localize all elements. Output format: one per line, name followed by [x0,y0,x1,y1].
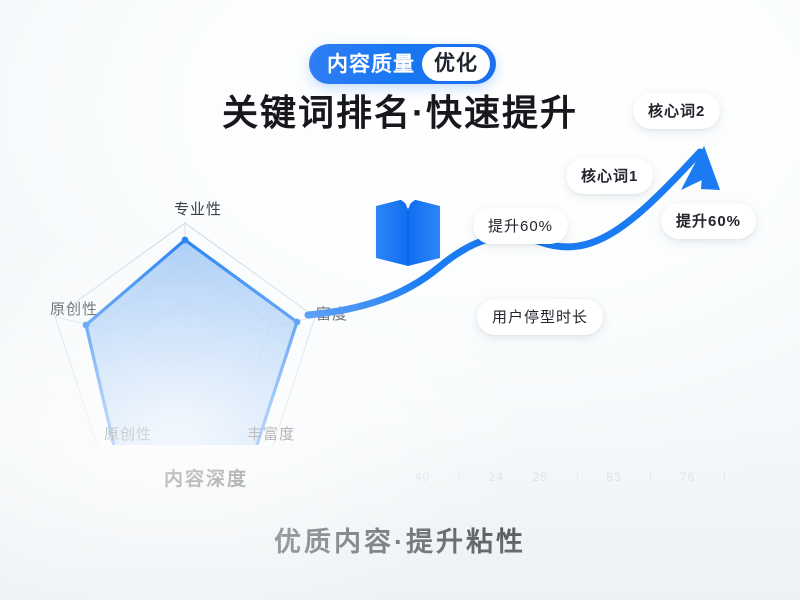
footer-title: 优质内容·提升粘性 [0,520,800,559]
chip-uplift-left[interactable]: 提升60% [473,208,568,244]
radar-label-right: 富度 [316,303,348,324]
radar-label-top: 专业性 [174,198,222,219]
badge-sub-label: 优化 [422,47,490,81]
tick-mark-4 [724,473,725,482]
radar-label-left: 原创性 [50,298,98,319]
radar-chart [40,215,360,445]
tick-value-5: 76 [680,470,695,484]
tick-mark-3 [650,473,651,482]
badge-main-label: 内容质量 [327,54,422,75]
tick-value-3: 25 [533,470,548,484]
chip-keyword-2[interactable]: 核心词2 [633,93,720,129]
radar-caption: 内容深度 [164,464,248,491]
tick-mark-2 [577,473,578,482]
tick-value-1: 40 [415,470,430,484]
chip-keyword-1[interactable]: 核心词1 [566,158,653,194]
radar-label-bottom-left: 原创性 [104,423,152,444]
radar-label-bottom-right: 丰富度 [247,423,295,444]
tick-value-2: 24 [489,470,504,484]
radar-chart-svg [40,215,360,445]
chip-dwell-time[interactable]: 用户停型时长 [477,299,603,335]
radar-data-polygon [86,240,297,445]
tick-mark-1 [459,473,460,482]
infographic-poster: 内容质量 优化 关键词排名·快速提升 [0,0,800,600]
tick-value-4: 83 [606,470,621,484]
chip-uplift-right[interactable]: 提升60% [661,203,756,239]
content-quality-badge: 内容质量 优化 [309,44,496,84]
open-book-icon [370,188,446,272]
tick-scale: 40 24 25 83 76 [415,466,725,488]
